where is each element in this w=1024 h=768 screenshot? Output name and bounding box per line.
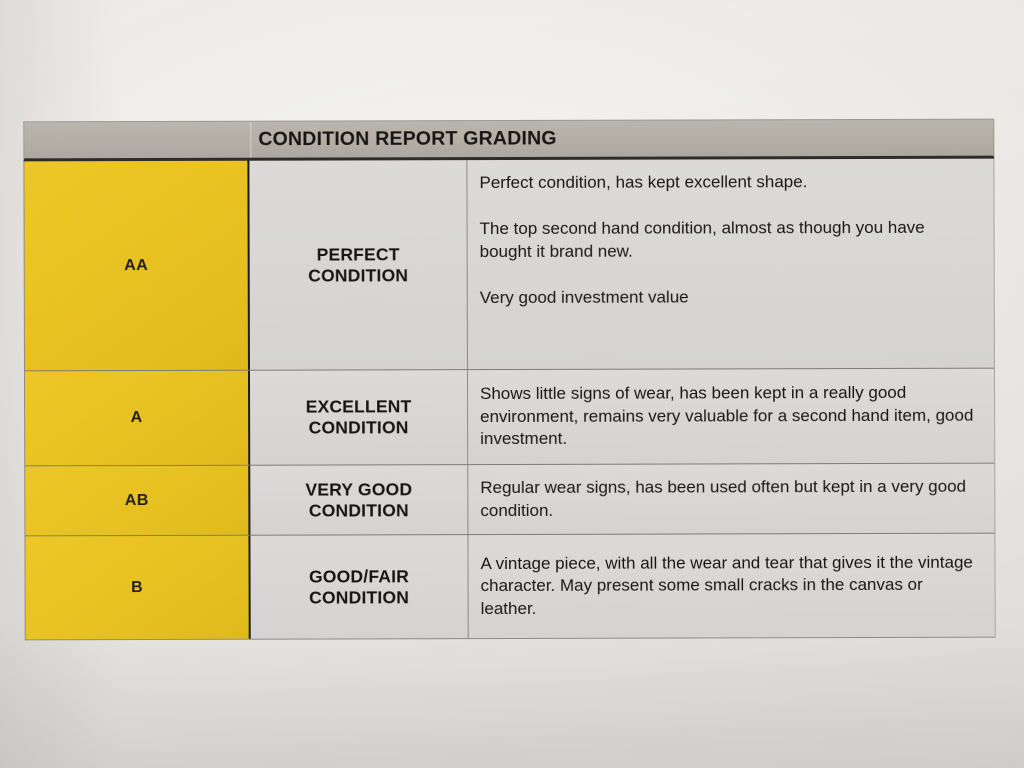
grade-cell-b: B	[25, 536, 250, 640]
condition-name-label: GOOD/FAIR CONDITION	[309, 566, 409, 608]
header-column-divider	[250, 122, 251, 158]
condition-name-label: EXCELLENT CONDITION	[306, 396, 412, 438]
condition-name-line-1: GOOD/FAIR	[309, 566, 409, 586]
description-cell-aa: Perfect condition, has kept excellent sh…	[467, 159, 994, 369]
condition-report-grading-table: CONDITION REPORT GRADING AA PERFECT COND…	[23, 119, 995, 641]
description-paragraph: Regular wear signs, has been used often …	[480, 476, 980, 522]
description-cell-ab: Regular wear signs, has been used often …	[468, 464, 994, 534]
table-row-grade-aa: AA PERFECT CONDITION Perfect condition, …	[24, 159, 994, 372]
description-paragraph: Very good investment value	[480, 286, 980, 310]
table-header-band: CONDITION REPORT GRADING	[23, 119, 994, 162]
condition-name-label: PERFECT CONDITION	[308, 244, 408, 286]
condition-name-cell-a: EXCELLENT CONDITION	[250, 370, 468, 465]
table-row-grade-a: A EXCELLENT CONDITION Shows little signs…	[25, 369, 994, 467]
grade-label: A	[131, 409, 143, 427]
grade-label: AB	[125, 492, 149, 510]
grade-label: AA	[124, 257, 148, 275]
grade-cell-a: A	[25, 371, 250, 466]
condition-name-cell-ab: VERY GOOD CONDITION	[250, 465, 468, 535]
grade-label: B	[131, 579, 143, 597]
description-paragraph: A vintage piece, with all the wear and t…	[480, 552, 980, 621]
condition-name-label: VERY GOOD CONDITION	[305, 479, 412, 521]
grade-cell-aa: AA	[24, 161, 250, 371]
description-cell-a: Shows little signs of wear, has been kep…	[468, 369, 994, 464]
condition-name-line-1: VERY GOOD	[305, 479, 412, 499]
paper-shadow-bottom	[0, 618, 1024, 768]
table-title: CONDITION REPORT GRADING	[258, 127, 556, 151]
description-paragraph: Perfect condition, has kept excellent sh…	[479, 171, 979, 195]
grade-cell-ab: AB	[25, 466, 250, 536]
condition-name-line-1: EXCELLENT	[306, 396, 412, 416]
condition-name-line-2: CONDITION	[309, 500, 409, 520]
table-row-grade-b: B GOOD/FAIR CONDITION A vintage piece, w…	[25, 534, 994, 640]
description-paragraph: Shows little signs of wear, has been kep…	[480, 382, 980, 451]
table-body: AA PERFECT CONDITION Perfect condition, …	[23, 159, 995, 641]
condition-name-line-2: CONDITION	[308, 265, 408, 285]
condition-name-line-2: CONDITION	[309, 417, 409, 437]
description-cell-b: A vintage piece, with all the wear and t…	[468, 534, 994, 638]
condition-name-cell-aa: PERFECT CONDITION	[249, 160, 468, 370]
description-paragraph: The top second hand condition, almost as…	[480, 217, 980, 263]
condition-name-line-2: CONDITION	[309, 587, 409, 607]
condition-name-line-1: PERFECT	[317, 244, 400, 264]
condition-name-cell-b: GOOD/FAIR CONDITION	[250, 535, 468, 639]
table-row-grade-ab: AB VERY GOOD CONDITION Regular wear sign…	[25, 464, 994, 537]
